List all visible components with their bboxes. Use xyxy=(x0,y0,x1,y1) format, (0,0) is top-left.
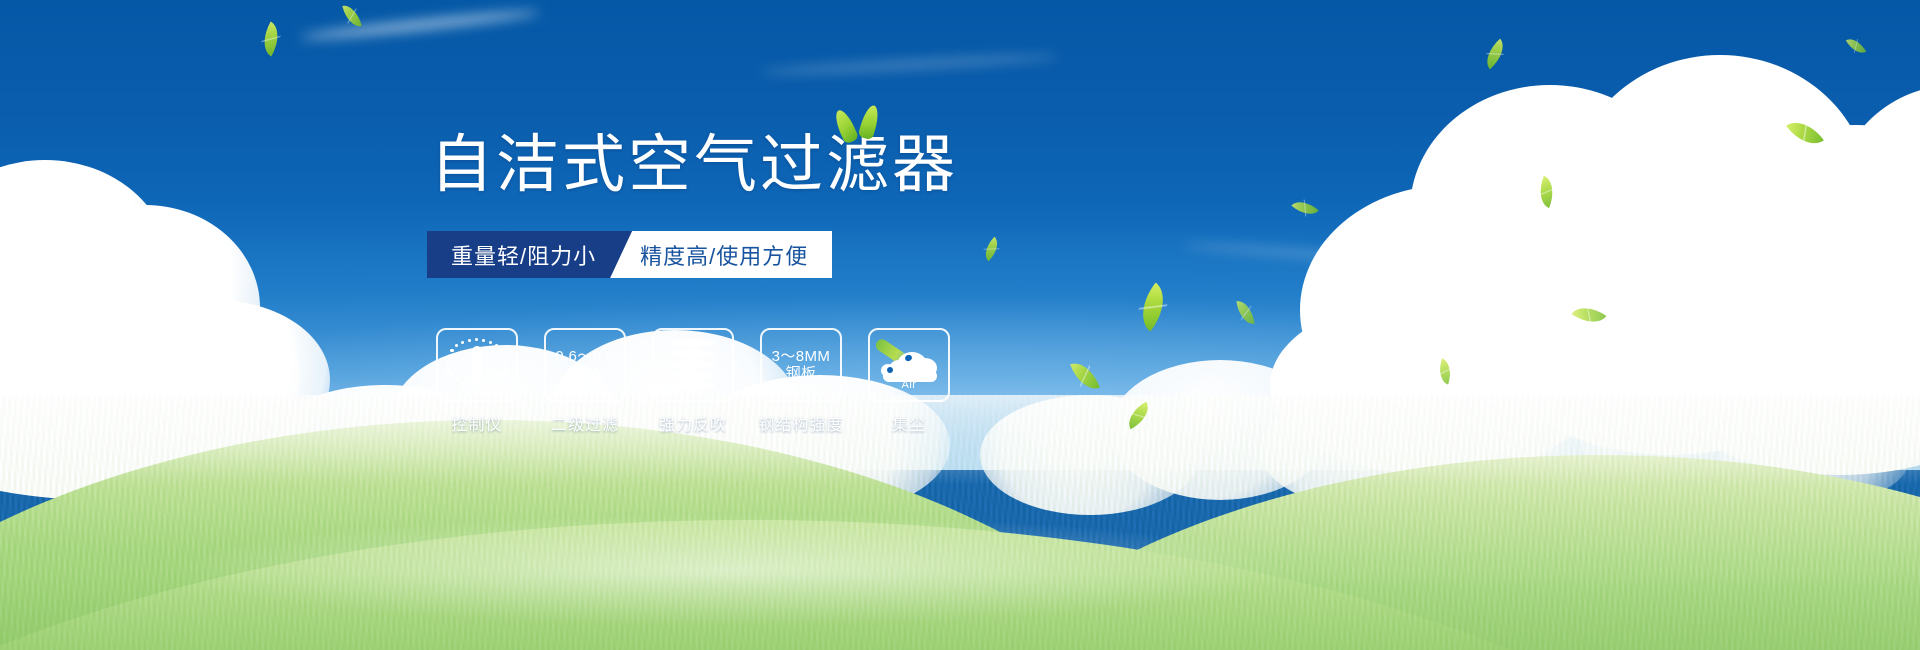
steel-line-2: 钢板 xyxy=(772,365,831,382)
feature-item-steel[interactable]: 3～8MM 钢板 钢结构强度 xyxy=(760,328,842,435)
control-dial-icon: NO OFF xyxy=(448,337,506,393)
feature-box: NO OFF xyxy=(436,328,518,402)
feature-list: NO OFF 控制仪 0.6～0.8 MPA 二级过滤 xyxy=(436,328,950,435)
dust-cloud-icon: Air xyxy=(879,342,939,388)
feature-box xyxy=(652,328,734,402)
feature-label: 集尘 xyxy=(892,411,926,435)
feature-label: 钢结构强度 xyxy=(759,411,844,435)
leaf-sprig-icon xyxy=(832,105,888,143)
feature-box: 0.6～0.8 MPA xyxy=(544,328,626,402)
dial-on-label: NO xyxy=(447,361,458,368)
feature-label: 强力反吹 xyxy=(659,411,727,435)
subtitle-pill-right: 精度高/使用方便 xyxy=(610,231,832,278)
pressure-line-2: MPA xyxy=(555,365,615,382)
feature-label: 控制仪 xyxy=(451,411,502,435)
feature-item-blowback[interactable]: 强力反吹 xyxy=(652,328,734,435)
air-label: Air xyxy=(879,379,939,391)
feature-box: Air xyxy=(868,328,950,402)
steel-plate-text-icon: 3～8MM 钢板 xyxy=(772,348,831,382)
subtitle-pills: 重量轻/阻力小 精度高/使用方便 xyxy=(427,231,832,278)
hero-banner: 自洁式空气过滤器 重量轻/阻力小 精度高/使用方便 xyxy=(0,0,1920,650)
subtitle-pill-left: 重量轻/阻力小 xyxy=(427,231,632,278)
page-title: 自洁式空气过滤器 xyxy=(430,134,958,197)
steel-line-1: 3～8MM xyxy=(772,348,831,365)
pressure-text-icon: 0.6～0.8 MPA xyxy=(555,348,615,382)
feature-box: 3～8MM 钢板 xyxy=(760,328,842,402)
dial-off-label: OFF xyxy=(491,384,506,391)
banner-content: 自洁式空气过滤器 重量轻/阻力小 精度高/使用方便 xyxy=(0,0,1920,650)
feature-item-pressure[interactable]: 0.6～0.8 MPA 二级过滤 xyxy=(544,328,626,435)
pressure-line-1: 0.6～0.8 xyxy=(555,348,615,365)
feature-label: 二级过滤 xyxy=(551,411,619,435)
feature-item-control[interactable]: NO OFF 控制仪 xyxy=(436,328,518,435)
feature-item-dust[interactable]: Air 集尘 xyxy=(868,328,950,435)
filter-cartridge-icon xyxy=(670,339,716,391)
